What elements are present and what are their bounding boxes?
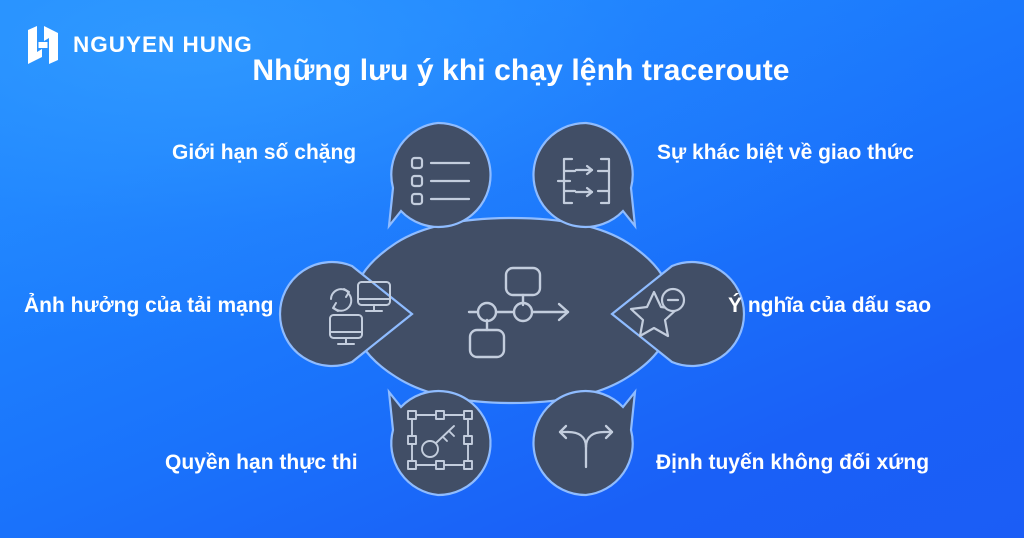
node-asymmetric-routing[interactable] xyxy=(533,391,635,495)
node-execution-permission[interactable] xyxy=(389,391,491,495)
node-protocol-difference-bubble xyxy=(533,123,635,227)
node-protocol-difference[interactable] xyxy=(533,123,635,227)
label-asymmetric-routing: Định tuyến không đối xứng xyxy=(656,450,929,475)
node-hop-limit[interactable] xyxy=(389,123,491,227)
node-execution-permission-bubble xyxy=(389,391,491,495)
node-asymmetric-routing-bubble xyxy=(533,391,635,495)
label-asterisk-meaning: Ý nghĩa của dấu sao xyxy=(728,293,931,318)
infographic-canvas: NGUYEN HUNG Những lưu ý khi chạy lệnh tr… xyxy=(0,0,1024,538)
label-execution-permission: Quyền hạn thực thi xyxy=(165,450,358,475)
label-hop-limit: Giới hạn số chặng xyxy=(172,140,356,165)
page-title: Những lưu ý khi chạy lệnh traceroute xyxy=(0,54,1024,88)
label-network-load: Ảnh hưởng của tải mạng xyxy=(24,293,273,318)
brand-name: NGUYEN HUNG xyxy=(73,34,253,57)
node-hop-limit-bubble xyxy=(389,123,491,227)
label-protocol-difference: Sự khác biệt về giao thức xyxy=(657,140,914,165)
